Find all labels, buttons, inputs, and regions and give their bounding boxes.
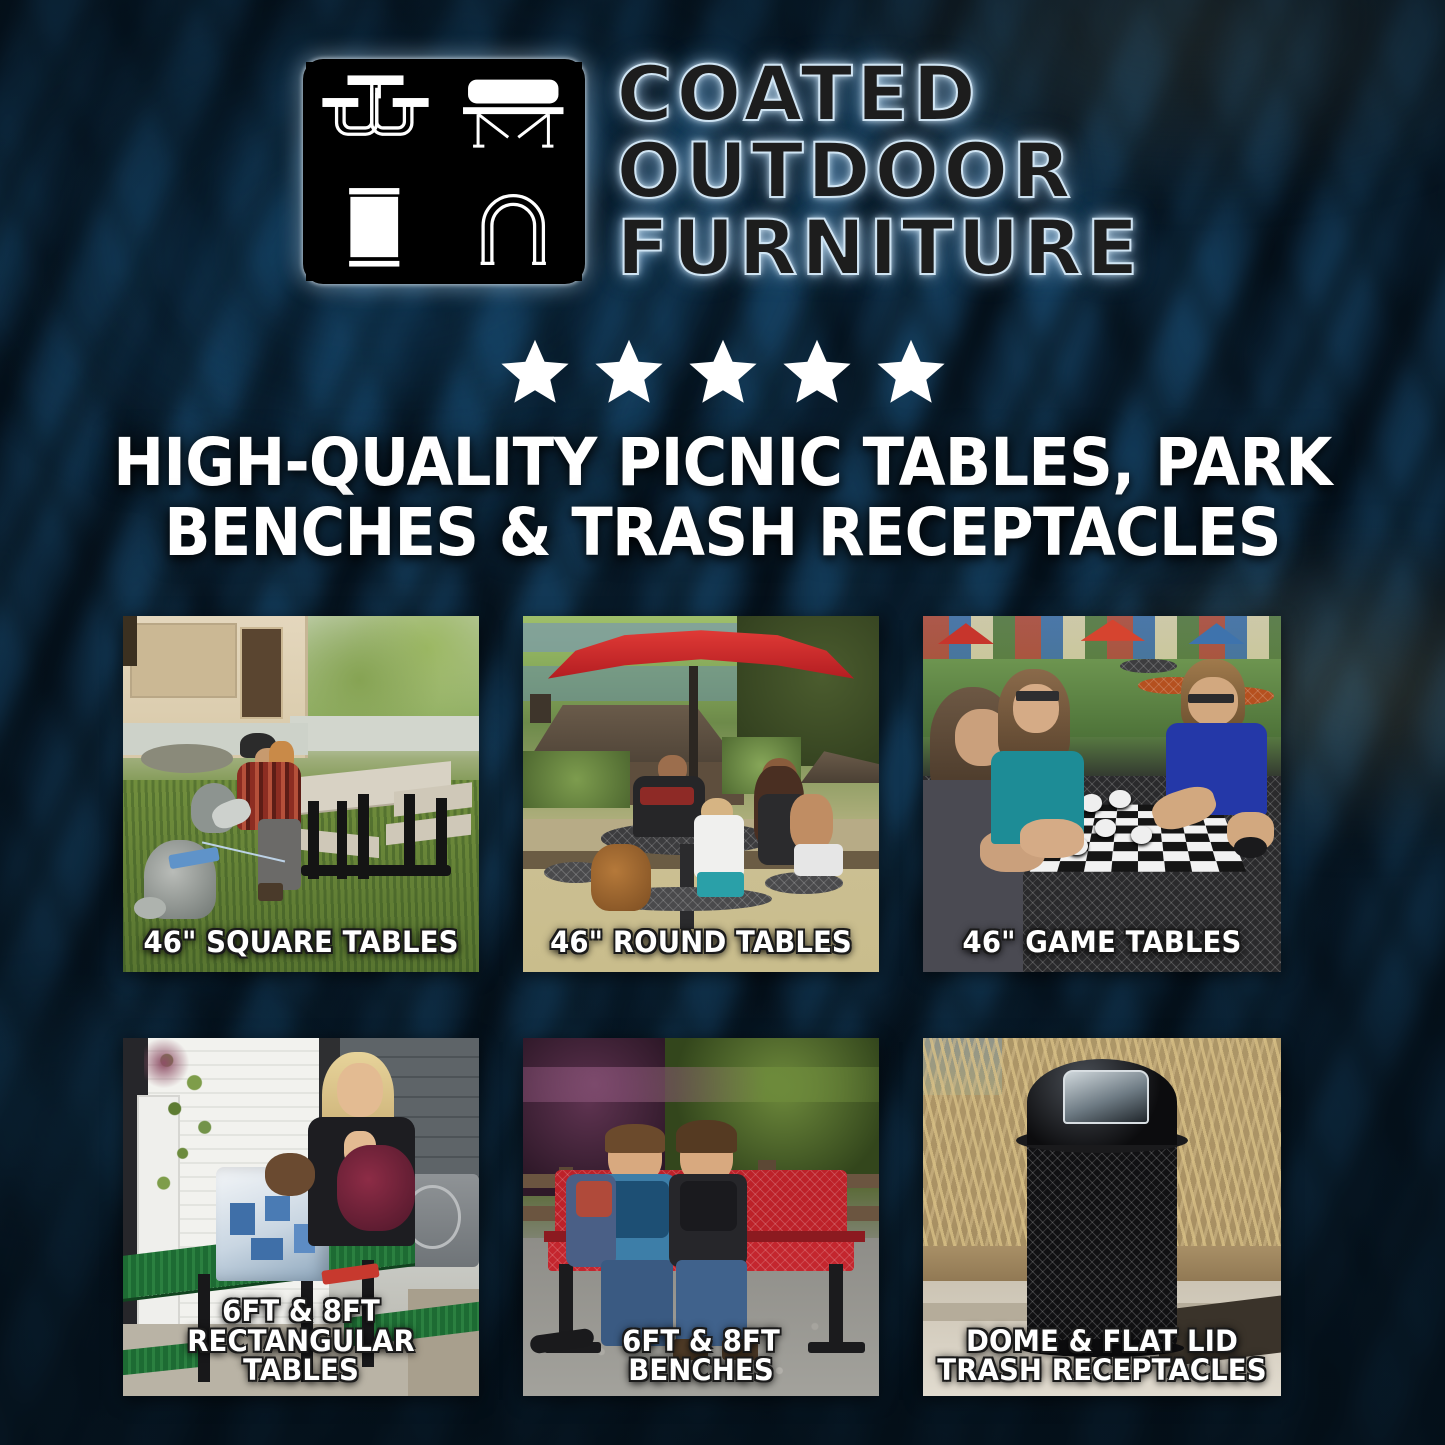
- product-caption-line-1: 6FT & 8FT: [532, 1327, 870, 1357]
- star-icon: [593, 335, 665, 407]
- product-card-round-tables[interactable]: 46" ROUND TABLES: [523, 616, 879, 972]
- brand-wordmark: COATED OUTDOOR FURNITURE: [617, 58, 1143, 285]
- trash-receptacle-icon: [306, 173, 443, 281]
- product-caption-line-2: BENCHES: [532, 1356, 870, 1386]
- headline-line-1: HIGH-QUALITY PICNIC TABLES, PARK: [113, 424, 1331, 501]
- wordmark-line-3: FURNITURE: [617, 212, 1143, 285]
- star-icon: [875, 335, 947, 407]
- product-card-trash-receptacles[interactable]: DOME & FLAT LID TRASH RECEPTACLES: [923, 1038, 1281, 1396]
- product-caption-line-1: DOME & FLAT LID: [932, 1327, 1272, 1357]
- product-caption: 46" SQUARE TABLES: [132, 928, 470, 958]
- product-caption: 6FT & 8FT RECTANGULAR TABLES: [132, 1297, 470, 1386]
- game-tables-photo: [923, 616, 1281, 972]
- picnic-table-front-icon: [306, 62, 443, 170]
- product-caption: 6FT & 8FT BENCHES: [532, 1327, 870, 1386]
- star-icon: [781, 335, 853, 407]
- headline-line-2: BENCHES & TRASH RECEPTACLES: [113, 498, 1332, 568]
- product-caption-line-1: 6FT & 8FT: [132, 1297, 470, 1327]
- star-icon: [687, 335, 759, 407]
- product-caption-line-2: TRASH RECEPTACLES: [932, 1356, 1272, 1386]
- wordmark-line-2: OUTDOOR: [617, 135, 1075, 208]
- product-caption-line-2: RECTANGULAR TABLES: [132, 1327, 470, 1386]
- product-card-benches[interactable]: 6FT & 8FT BENCHES: [523, 1038, 879, 1396]
- product-card-rectangular-tables[interactable]: 6FT & 8FT RECTANGULAR TABLES: [123, 1038, 479, 1396]
- wordmark-line-1: COATED: [617, 58, 980, 131]
- page-title: HIGH-QUALITY PICNIC TABLES, PARK BENCHES…: [113, 428, 1332, 568]
- picnic-table-side-icon: [445, 62, 582, 170]
- product-caption: DOME & FLAT LID TRASH RECEPTACLES: [932, 1327, 1272, 1386]
- product-grid: 46" SQUARE TABLES: [123, 616, 1323, 1396]
- star-rating: [0, 335, 1445, 407]
- product-card-game-tables[interactable]: 46" GAME TABLES: [923, 616, 1281, 972]
- round-tables-photo: [523, 616, 879, 972]
- star-icon: [499, 335, 571, 407]
- product-caption: 46" ROUND TABLES: [532, 928, 870, 958]
- brand-logo: COATED OUTDOOR FURNITURE: [0, 58, 1445, 285]
- square-tables-photo: [123, 616, 479, 972]
- bike-rack-arch-icon: [445, 173, 582, 281]
- product-card-square-tables[interactable]: 46" SQUARE TABLES: [123, 616, 479, 972]
- logo-icon-grid: [303, 59, 585, 284]
- product-caption: 46" GAME TABLES: [932, 928, 1272, 958]
